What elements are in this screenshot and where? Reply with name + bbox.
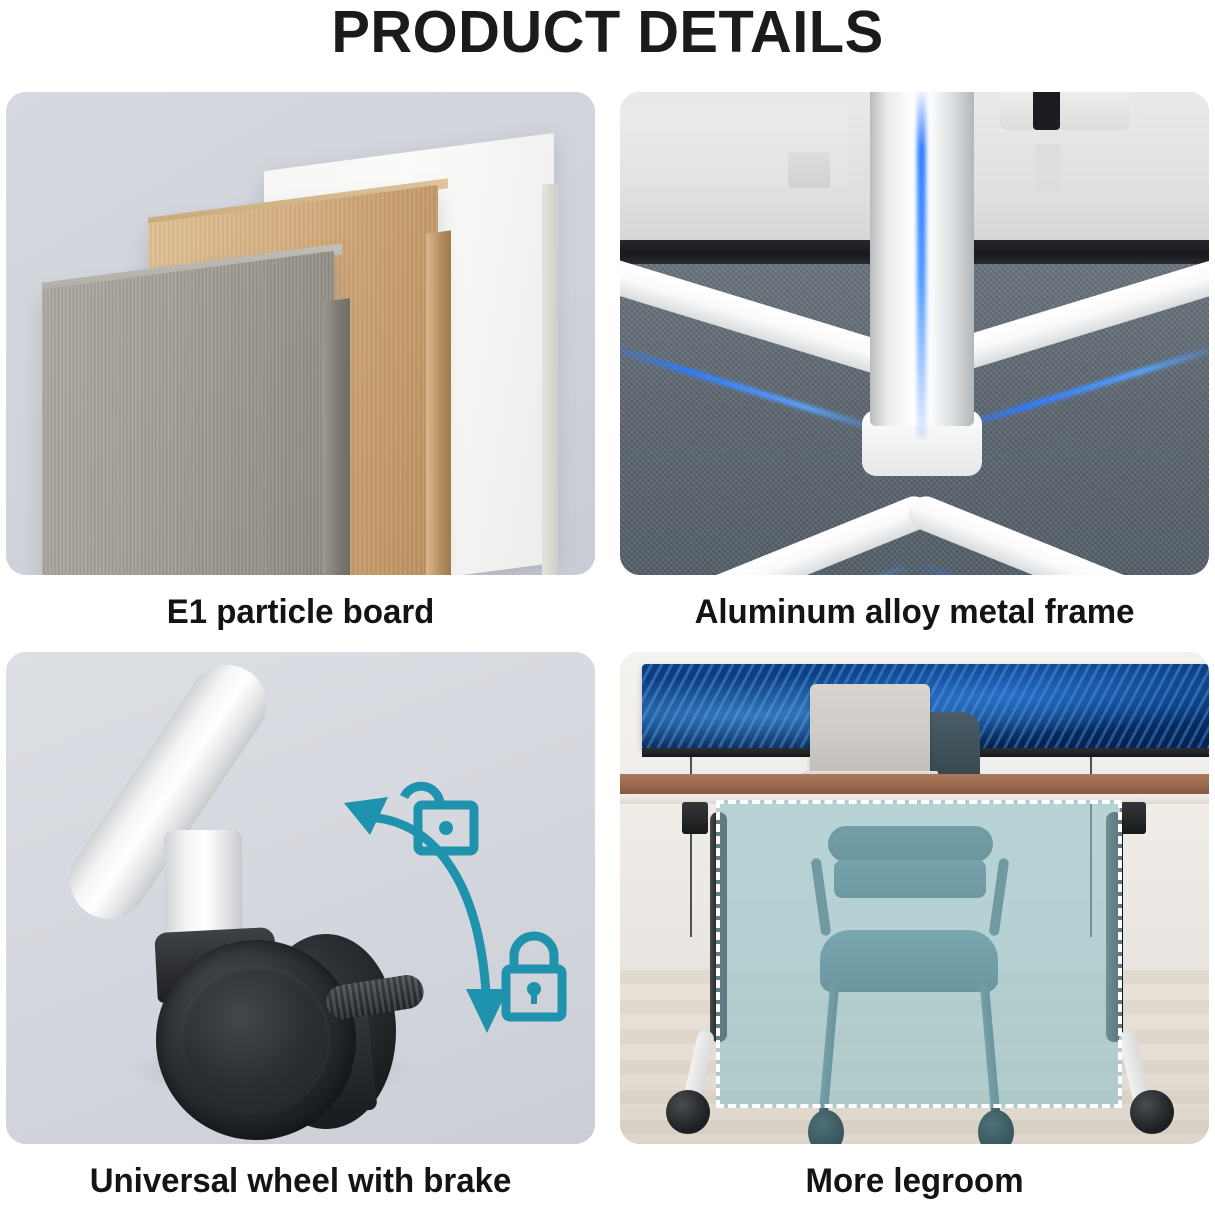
- wall-object-right: [1035, 144, 1061, 192]
- board-sample-gray: [42, 251, 334, 575]
- curved-double-arrow-icon: [366, 817, 486, 992]
- caster-wheel-hub: [182, 966, 330, 1114]
- board-gray-edge: [322, 298, 350, 575]
- particle-board-photo: [6, 92, 595, 575]
- wall-object-left: [788, 152, 830, 188]
- metal-frame-photo: [620, 92, 1209, 575]
- page-title: PRODUCT DETAILS: [12, 0, 1203, 66]
- wheel-lock-indicator-group: [326, 757, 576, 1057]
- desk-bracket-right: [1120, 802, 1146, 834]
- panel-caption-metal-frame: Aluminum alloy metal frame: [629, 592, 1200, 632]
- desk-caster-right: [1130, 1090, 1174, 1134]
- unlock-keyhole: [439, 821, 453, 835]
- panel-caption-particle-board: E1 particle board: [15, 592, 586, 632]
- panel-particle-board: E1 particle board: [6, 92, 595, 632]
- lock-icon: [506, 936, 562, 1017]
- chair-caster-right: [978, 1110, 1014, 1144]
- monitor-mount: [1000, 92, 1130, 130]
- frame-column-glow: [917, 92, 926, 438]
- desk-tabletop: [620, 774, 1209, 796]
- board-oak-edge: [426, 230, 451, 575]
- desk-bracket-left: [682, 802, 708, 834]
- lock-keyhole-stem: [531, 991, 537, 1004]
- more-legroom-photo: [620, 652, 1209, 1144]
- panel-more-legroom: More legroom: [620, 652, 1209, 1201]
- legroom-highlight-area: [716, 800, 1122, 1108]
- panel-caption-more-legroom: More legroom: [629, 1161, 1200, 1201]
- universal-wheel-photo: [6, 652, 595, 1144]
- panel-universal-wheel: Universal wheel with brake: [6, 652, 595, 1201]
- panel-metal-frame: Aluminum alloy metal frame: [620, 92, 1209, 632]
- board-white-edge: [542, 183, 558, 575]
- product-details-grid: E1 particle board Aluminum alloy: [6, 92, 1209, 1144]
- chair-caster-left: [808, 1110, 844, 1144]
- laptop-screen: [810, 684, 930, 776]
- desk-caster-left: [666, 1090, 710, 1134]
- panel-caption-universal-wheel: Universal wheel with brake: [15, 1161, 586, 1201]
- monitor-mount-dark-strip: [1033, 92, 1060, 130]
- unlock-icon: [404, 786, 474, 851]
